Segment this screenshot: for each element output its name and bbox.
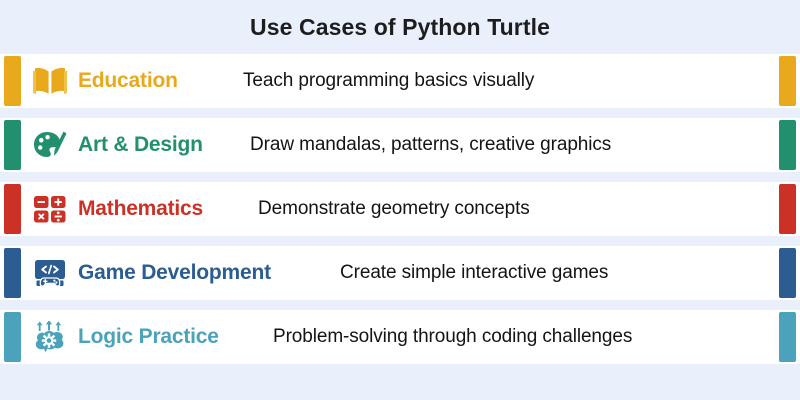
brain-gear-icon bbox=[28, 315, 72, 359]
accent-bar-right bbox=[779, 56, 796, 106]
list-item-label: Mathematics bbox=[78, 197, 203, 221]
list-item[interactable]: Game Development Create simple interacti… bbox=[0, 246, 800, 300]
accent-bar-left bbox=[4, 56, 21, 106]
list-item-description: Teach programming basics visually bbox=[243, 70, 534, 92]
use-case-list: Education Teach programming basics visua… bbox=[0, 44, 800, 364]
list-item-description: Create simple interactive games bbox=[340, 262, 608, 284]
infographic-container: Use Cases of Python Turtle Education Tea… bbox=[0, 0, 800, 400]
accent-bar-right bbox=[779, 248, 796, 298]
list-item-description: Demonstrate geometry concepts bbox=[258, 198, 530, 220]
accent-bar-left bbox=[4, 184, 21, 234]
math-operators-icon bbox=[28, 187, 72, 231]
accent-bar-right bbox=[779, 184, 796, 234]
accent-bar-left bbox=[4, 312, 21, 362]
accent-bar-left bbox=[4, 120, 21, 170]
list-item-description: Draw mandalas, patterns, creative graphi… bbox=[250, 134, 611, 156]
list-item-label: Education bbox=[78, 69, 178, 93]
list-item[interactable]: Logic Practice Problem-solving through c… bbox=[0, 310, 800, 364]
accent-bar-right bbox=[779, 120, 796, 170]
list-item-description: Problem-solving through coding challenge… bbox=[273, 326, 632, 348]
list-item-label: Game Development bbox=[78, 261, 271, 285]
open-book-icon bbox=[28, 59, 72, 103]
accent-bar-right bbox=[779, 312, 796, 362]
list-item[interactable]: Art & Design Draw mandalas, patterns, cr… bbox=[0, 118, 800, 172]
game-controller-code-icon bbox=[28, 251, 72, 295]
list-item-label: Art & Design bbox=[78, 133, 203, 157]
list-item[interactable]: Mathematics Demonstrate geometry concept… bbox=[0, 182, 800, 236]
accent-bar-left bbox=[4, 248, 21, 298]
list-item-label: Logic Practice bbox=[78, 325, 219, 349]
page-title: Use Cases of Python Turtle bbox=[0, 0, 800, 44]
palette-brush-icon bbox=[28, 123, 72, 167]
list-item[interactable]: Education Teach programming basics visua… bbox=[0, 54, 800, 108]
